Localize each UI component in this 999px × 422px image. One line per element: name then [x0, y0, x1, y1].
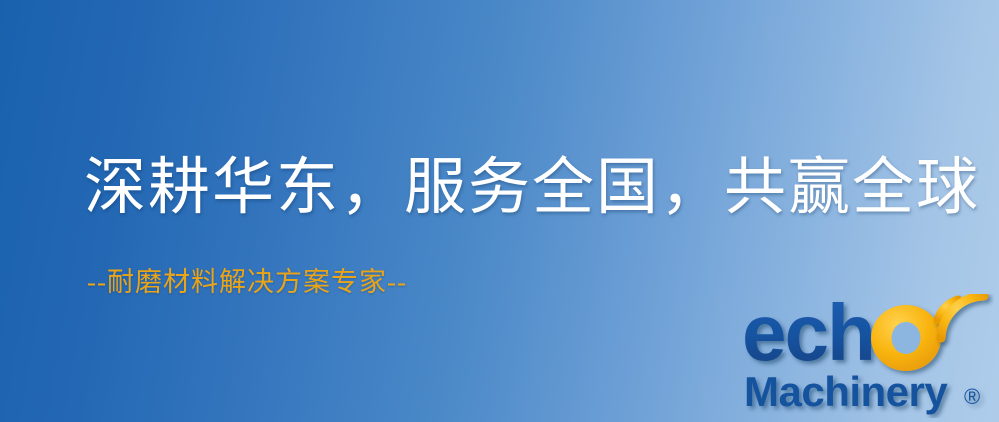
logo-letter-o — [871, 305, 941, 371]
logo-echo-letters: ech — [742, 294, 874, 377]
registered-trademark-icon: ® — [964, 384, 980, 409]
signal-waves-icon — [938, 296, 984, 338]
hero-banner: 深耕华东，服务全国，共赢全球 --耐磨材料解决方案专家-- — [0, 0, 999, 422]
page-title: 深耕华东，服务全国，共赢全球 — [84, 152, 980, 224]
page-subtitle: --耐磨材料解决方案专家-- — [87, 265, 407, 299]
logo-graphic: ech Machinery ® — [742, 294, 994, 418]
company-logo[interactable]: ech Machinery ® — [742, 294, 994, 418]
logo-letters-ech: ech — [742, 294, 874, 377]
logo-wordmark-secondary: Machinery — [744, 368, 948, 415]
logo-machinery-text: Machinery ® — [744, 368, 980, 415]
